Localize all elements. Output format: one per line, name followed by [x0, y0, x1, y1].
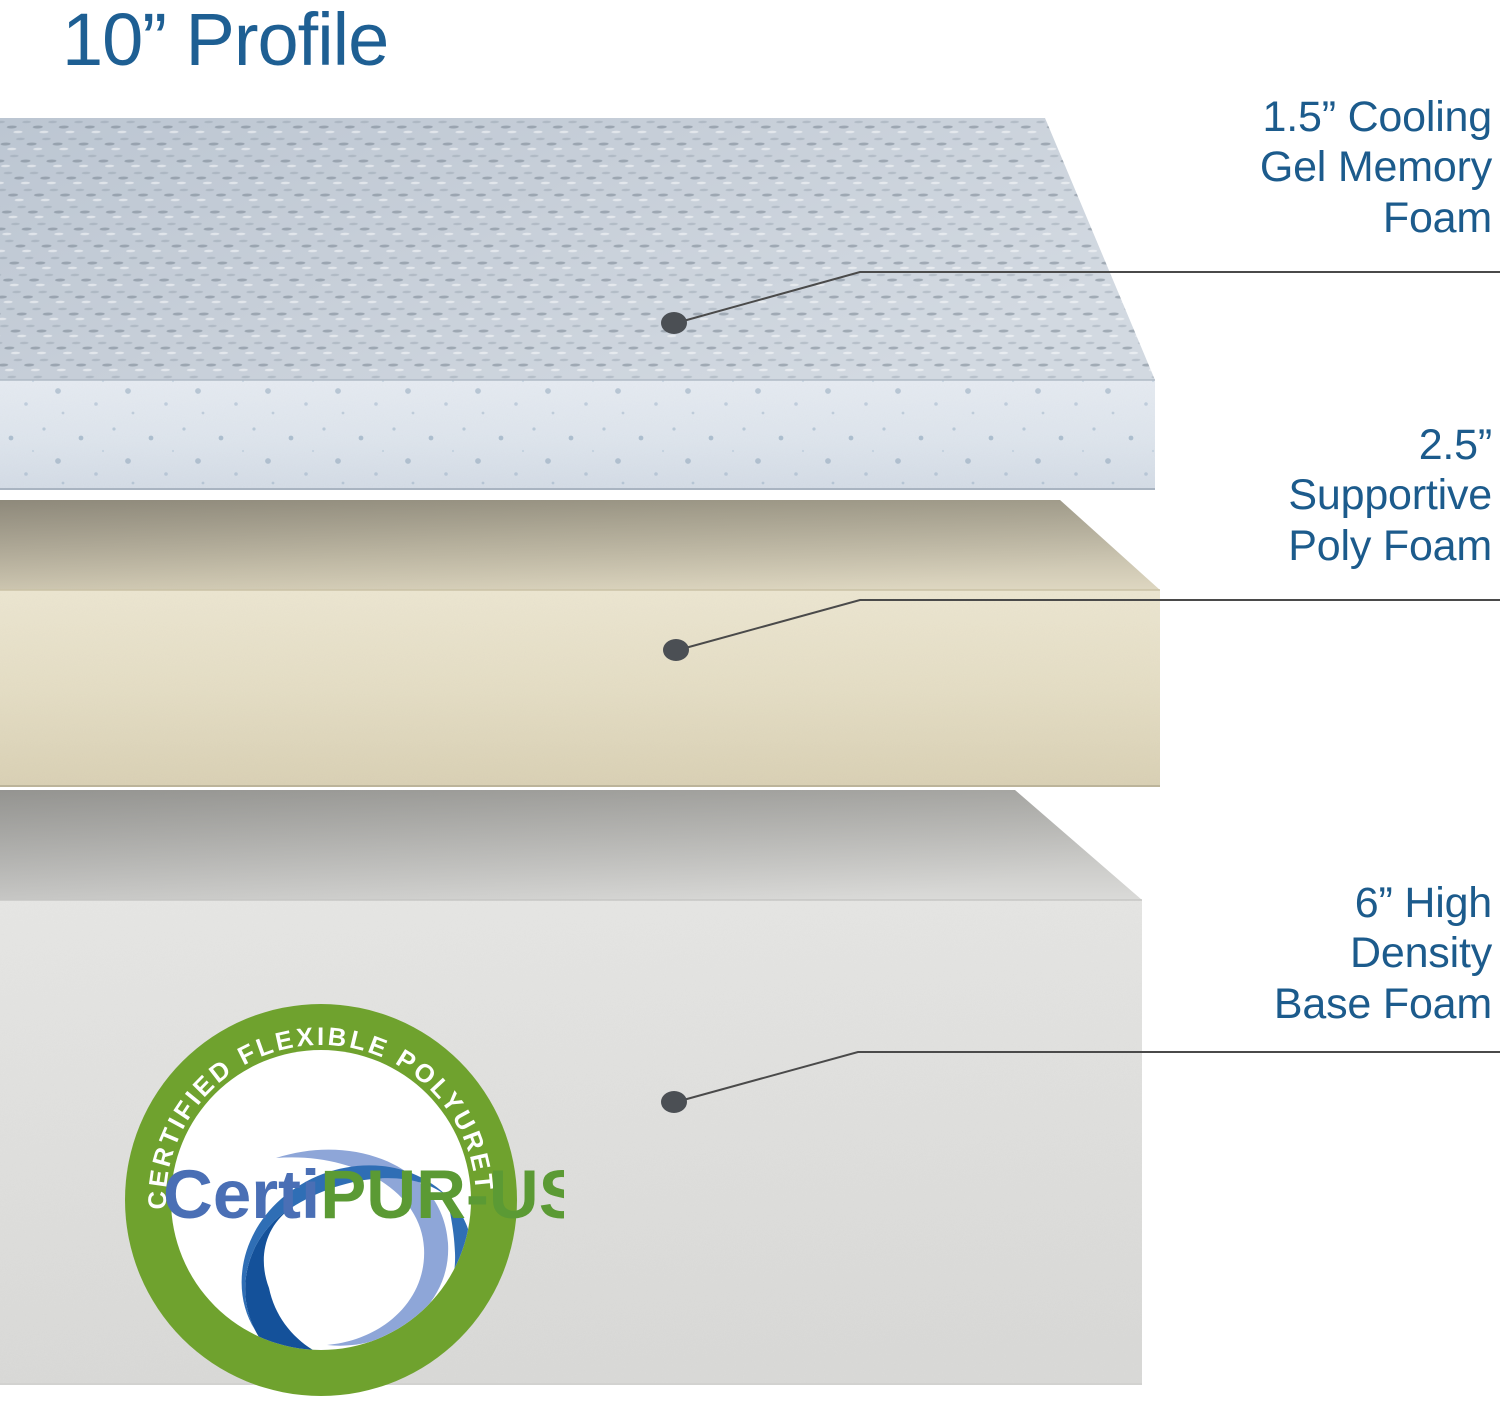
callout-2-line-3: Poly Foam: [1072, 521, 1492, 571]
callout-3-line-3: Base Foam: [1072, 979, 1492, 1029]
certipur-us-badge: CONTAINS CERTIFIED FLEXIBLE POLYURETHANE…: [78, 1000, 564, 1400]
callout-cooling-gel-memory-foam: 1.5” Cooling Gel Memory Foam: [1072, 92, 1492, 243]
callout-3-line-1: 6” High: [1072, 878, 1492, 928]
page-title: 10” Profile: [62, 0, 388, 83]
callout-high-density-base-foam: 6” High Density Base Foam: [1072, 878, 1492, 1029]
callout-3-line-2: Density: [1072, 928, 1492, 978]
layer-cooling-gel-memory-foam: [0, 118, 1155, 490]
callout-supportive-poly-foam: 2.5” Supportive Poly Foam: [1072, 420, 1492, 571]
callout-2-line-1: 2.5”: [1072, 420, 1492, 470]
badge-wordmark: CertiPUR-US®: [163, 1156, 564, 1233]
mattress-profile-diagram: 10” Profile 1.5” Cooling Gel Memory Foam…: [0, 0, 1500, 1415]
callout-1-line-3: Foam: [1072, 193, 1492, 243]
callout-2-line-2: Supportive: [1072, 470, 1492, 520]
callout-1-line-2: Gel Memory: [1072, 142, 1492, 192]
callout-1-line-1: 1.5” Cooling: [1072, 92, 1492, 142]
